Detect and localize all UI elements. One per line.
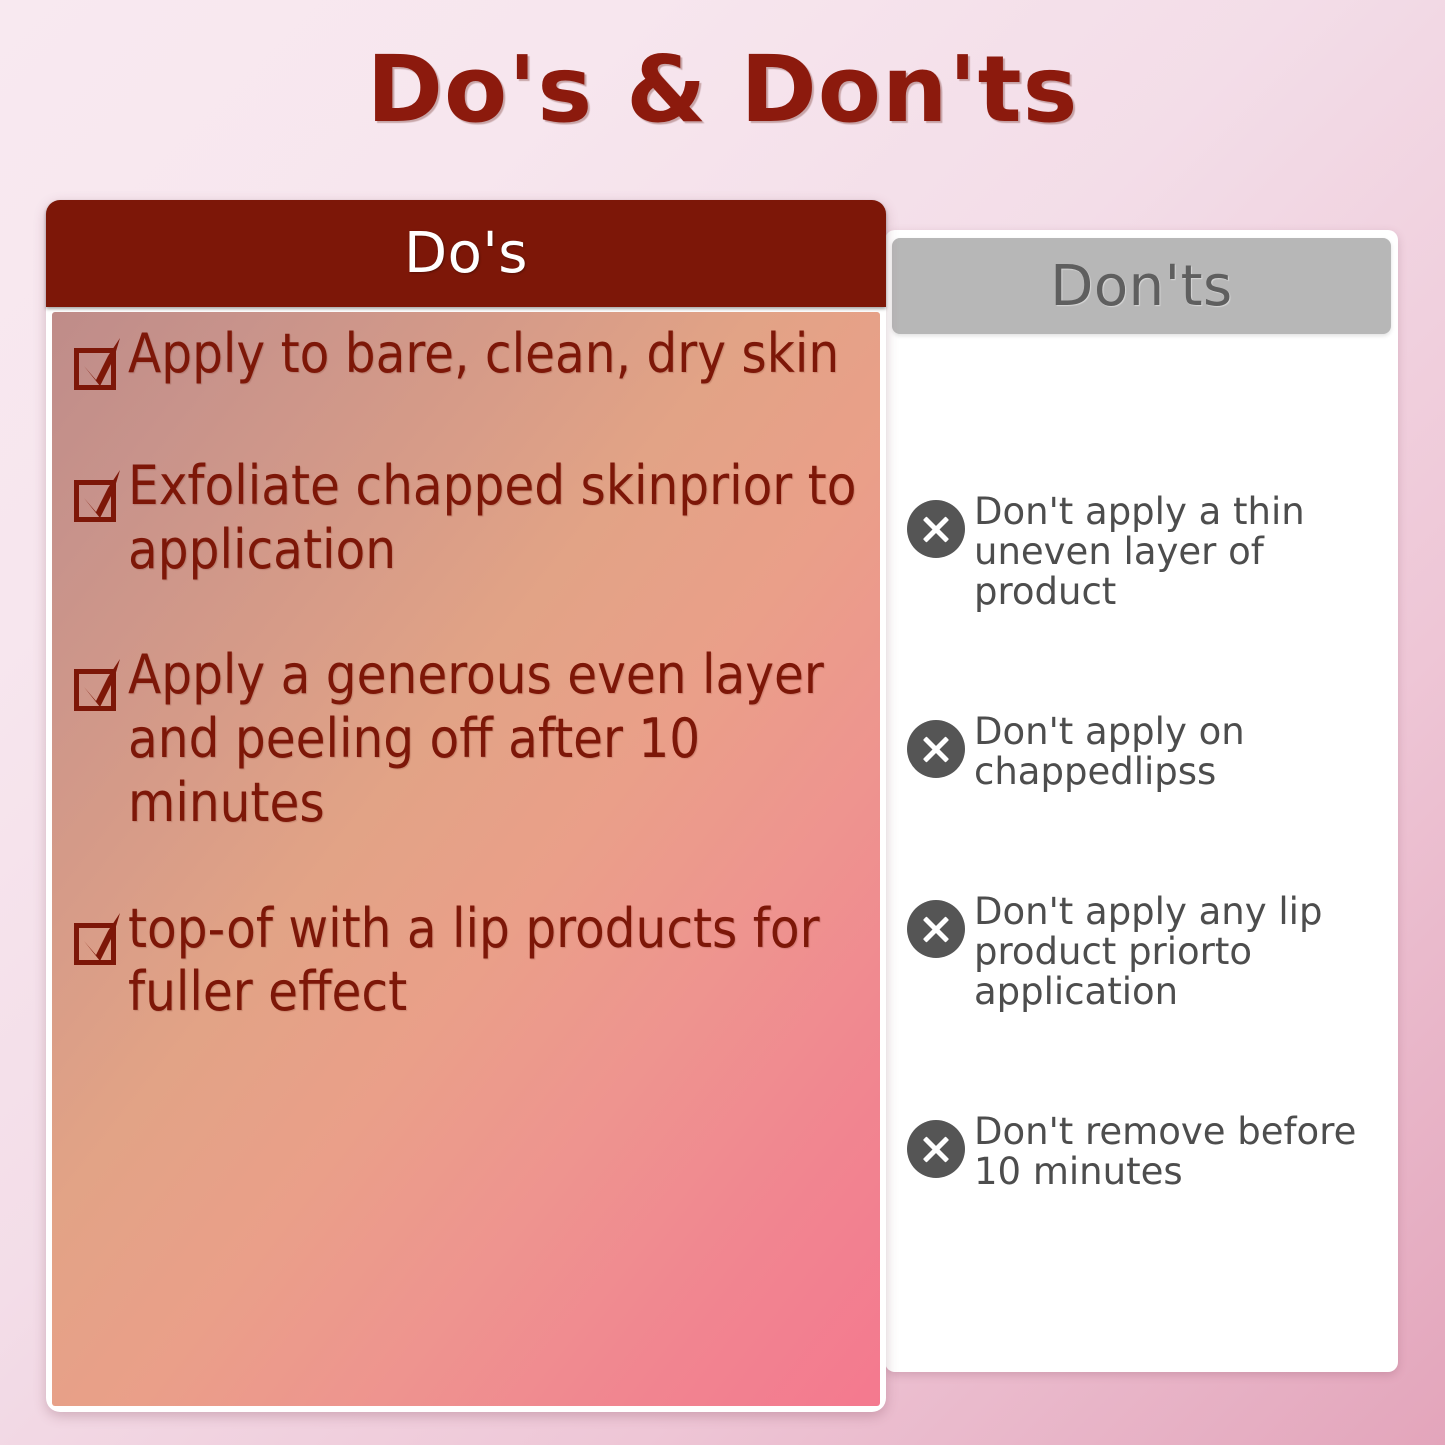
circle-x-icon — [907, 1120, 965, 1178]
donts-header: Don'ts — [892, 238, 1391, 334]
list-item-label: Apply a generous even layer and peeling … — [128, 643, 858, 834]
donts-header-label: Don'ts — [1050, 254, 1232, 319]
list-item: Don't remove before 10 minutes — [907, 1112, 1387, 1192]
checkbox-checked-icon — [72, 336, 124, 392]
checkbox-checked-icon — [72, 468, 124, 524]
circle-x-icon — [907, 720, 965, 778]
list-item-label: Don't apply any lip product priorto appl… — [974, 892, 1386, 1012]
list-item-label: Don't remove before 10 minutes — [974, 1112, 1386, 1192]
dos-header: Do's — [46, 200, 886, 307]
list-item-label: Don't apply a thin uneven layer of produ… — [974, 492, 1386, 612]
list-item: top-of with a lip products for fuller ef… — [72, 897, 862, 1024]
list-item: Don't apply on chappedlipss — [907, 712, 1387, 792]
donts-list: Don't apply a thin uneven layer of produ… — [907, 492, 1387, 1292]
circle-x-icon — [907, 500, 965, 558]
dos-list: Apply to bare, clean, dry skin Exfoliate… — [72, 322, 862, 1086]
list-item-label: Don't apply on chappedlipss — [974, 712, 1386, 792]
list-item-label: Apply to bare, clean, dry skin — [128, 322, 839, 386]
list-item: Don't apply a thin uneven layer of produ… — [907, 492, 1387, 612]
list-item: Apply to bare, clean, dry skin — [72, 322, 862, 392]
dos-header-label: Do's — [404, 221, 528, 286]
list-item-label: top-of with a lip products for fuller ef… — [128, 897, 858, 1024]
list-item: Apply a generous even layer and peeling … — [72, 643, 862, 834]
list-item: Exfoliate chapped skinprior to applicati… — [72, 454, 862, 581]
list-item: Don't apply any lip product priorto appl… — [907, 892, 1387, 1012]
list-item-label: Exfoliate chapped skinprior to applicati… — [128, 454, 858, 581]
dos-card: Do's Apply to bare, clean, dry skin Exfo… — [46, 200, 886, 1412]
circle-x-icon — [907, 900, 965, 958]
page-title: Do's & Don'ts — [0, 42, 1445, 139]
donts-card: Don'ts Don't apply a thin uneven layer o… — [885, 230, 1398, 1372]
checkbox-checked-icon — [72, 911, 124, 967]
checkbox-checked-icon — [72, 657, 124, 713]
